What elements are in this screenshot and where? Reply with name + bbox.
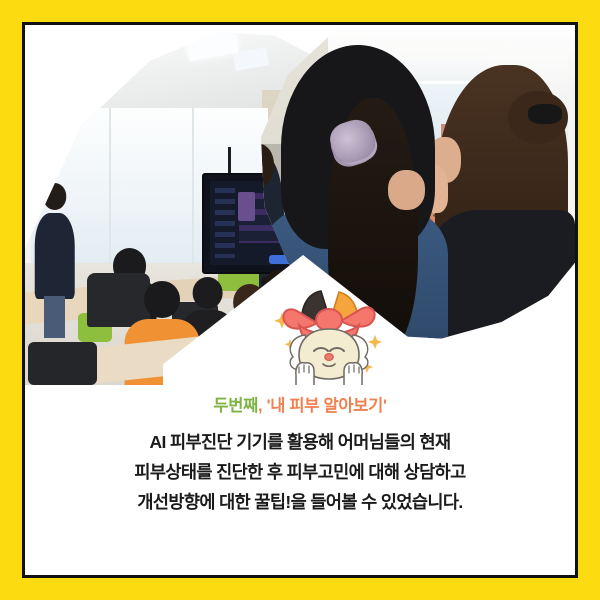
instructor-body [34,213,75,298]
photo-collage [25,25,575,385]
caption-body-line-2: 피부상태를 진단한 후 피부고민에 대해 상담하고 [25,457,575,487]
caption-body-line-1: AI 피부진단 기기를 활용해 어머님들의 현재 [25,427,575,457]
consultant-hair-tie [528,104,561,124]
mascot-left-paw [296,363,314,385]
consultant-body [428,210,575,355]
screen-card [238,192,255,221]
instructor-head [43,183,67,209]
chair-front [28,342,97,385]
mascot-right-paw [344,363,362,385]
bear-with-pink-bow-mascot [269,287,389,385]
caption-body: AI 피부진단 기기를 활용해 어머님들의 현재 피부상태를 진단한 후 피부고… [25,427,575,517]
caption-headline: 두번째, '내 피부 알아보기' [25,397,575,415]
participant-face [388,170,425,210]
person-instructor [34,183,75,298]
audience-2-head [144,281,180,319]
headline-green-text: 두번째 [213,397,258,415]
mascot-bow-knot [316,309,342,331]
instructor-legs [44,296,65,337]
card-frame: 두번째, '내 피부 알아보기' AI 피부진단 기기를 활용해 어머님들의 현… [22,22,578,578]
caption-block: 두번째, '내 피부 알아보기' AI 피부진단 기기를 활용해 어머님들의 현… [25,397,575,517]
mascot-illustration [269,287,389,385]
headline-orange-text: , '내 피부 알아보기' [258,397,387,415]
caption-body-line-3: 개선방향에 대한 꿀팁!을 들어볼 수 있었습니다. [25,487,575,517]
card-inner: 두번째, '내 피부 알아보기' AI 피부진단 기기를 활용해 어머님들의 현… [25,25,575,575]
mascot-nose [325,354,333,361]
